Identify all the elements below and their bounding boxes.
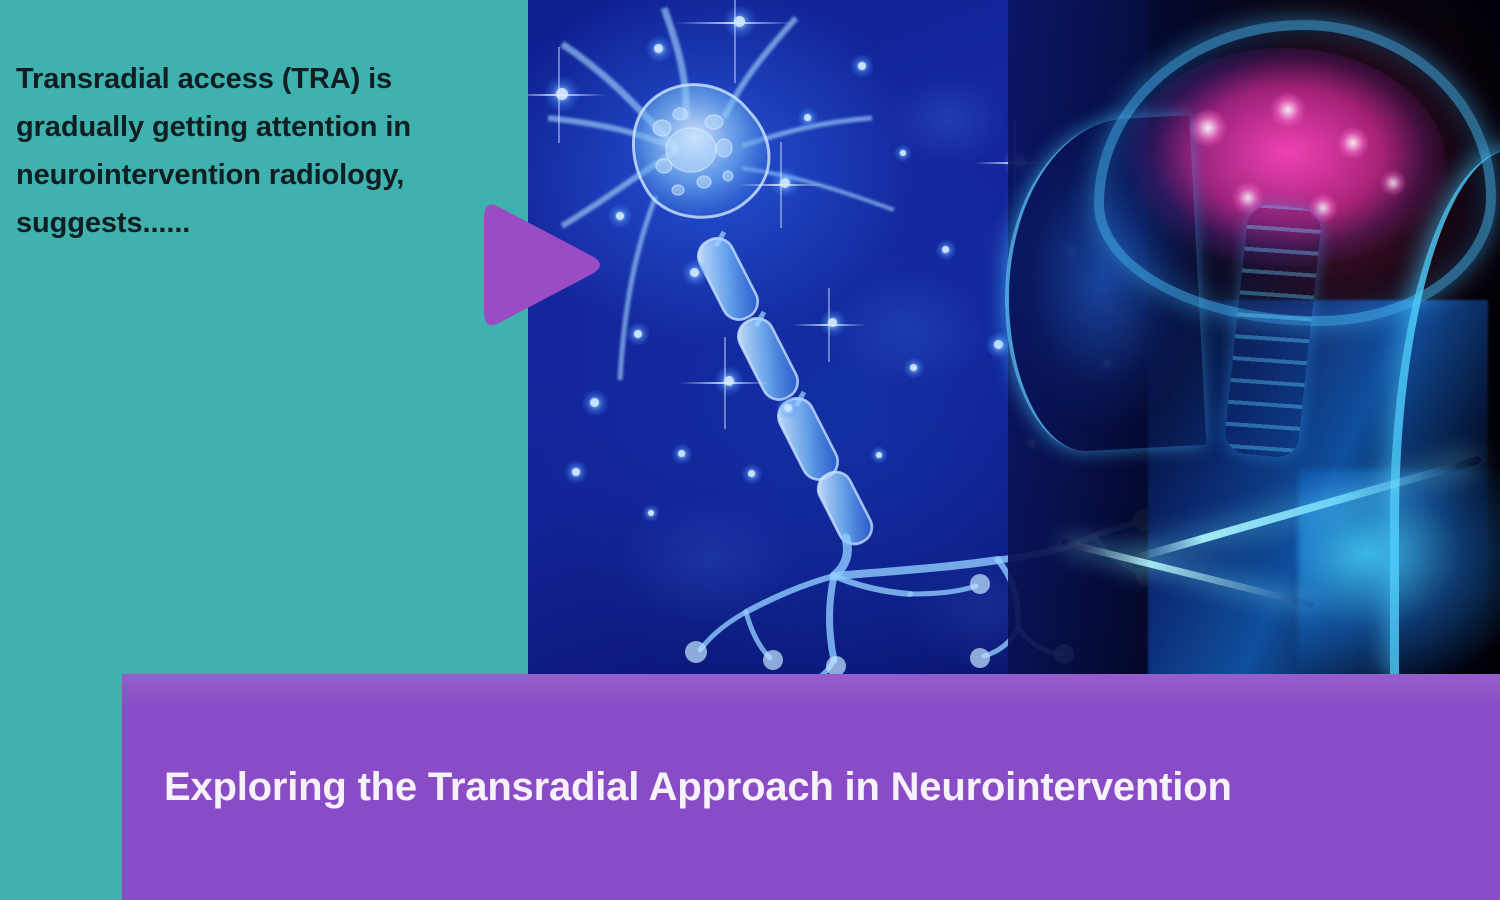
lede-paragraph: Transradial access (TRA) is gradually ge…	[16, 55, 516, 247]
head-profile-illustration	[998, 0, 1500, 676]
title-bar-sheen	[122, 674, 1500, 708]
banner-canvas: Transradial access (TRA) is gradually ge…	[0, 0, 1500, 900]
title-bar: Exploring the Transradial Approach in Ne…	[122, 674, 1500, 900]
hero-artwork	[528, 0, 1500, 676]
page-title: Exploring the Transradial Approach in Ne…	[122, 765, 1232, 809]
